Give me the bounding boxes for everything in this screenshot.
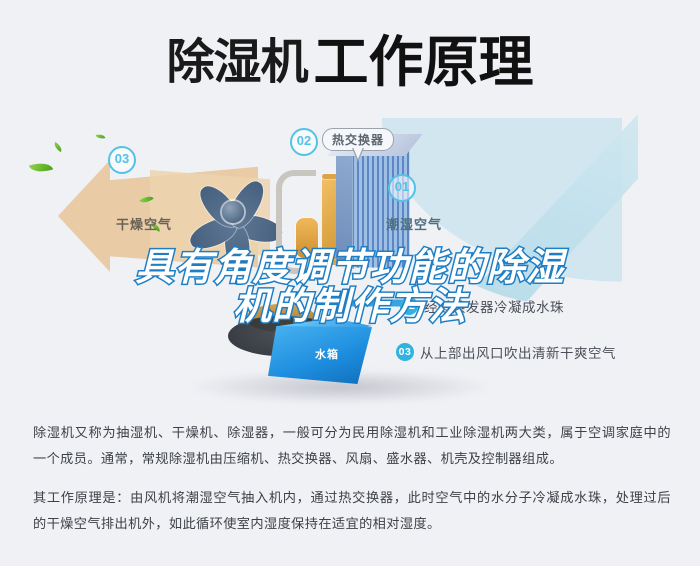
fan-hub [222, 201, 244, 223]
overlay-headline-line2: 机的制作方法 [0, 287, 700, 326]
overlay-headline: 具有角度调节功能的除湿 机的制作方法 [0, 248, 700, 326]
page-title: 除湿机 工作原理 [0, 22, 700, 102]
infographic-page: 除湿机 工作原理 [0, 0, 700, 566]
body-paragraph-2: 其工作原理是：由风机将潮湿空气抽入机内，通过热交换器，此时空气中的水分子冷凝成水… [33, 485, 671, 536]
marker-02: 02 [290, 128, 318, 156]
step-03: 03 从上部出风口吹出清新干爽空气 [396, 342, 616, 362]
body-copy: 除湿机又称为抽湿机、干燥机、除湿器，一般可分为民用除湿机和工业除湿机两大类，属于… [33, 420, 671, 551]
title-secondary: 工作原理 [314, 35, 534, 90]
step-badge-03: 03 [396, 343, 414, 361]
marker-01: 01 [388, 174, 416, 202]
marker-03: 03 [108, 146, 136, 174]
humid-air-label: 潮湿空气 [386, 214, 442, 233]
leaf-icon [52, 142, 64, 152]
water-tank-label: 水箱 [292, 346, 362, 362]
callout-tail-inner-icon [353, 147, 363, 159]
leaf-icon [96, 133, 106, 139]
title-primary: 除湿机 [166, 38, 307, 86]
step-text-03: 从上部出风口吹出清新干爽空气 [420, 342, 616, 362]
overlay-headline-line1: 具有角度调节功能的除湿 [0, 248, 700, 287]
leaf-icon [29, 159, 53, 176]
dry-air-label: 干燥空气 [116, 214, 172, 233]
body-paragraph-1: 除湿机又称为抽湿机、干燥机、除湿器，一般可分为民用除湿机和工业除湿机两大类，属于… [33, 420, 671, 471]
